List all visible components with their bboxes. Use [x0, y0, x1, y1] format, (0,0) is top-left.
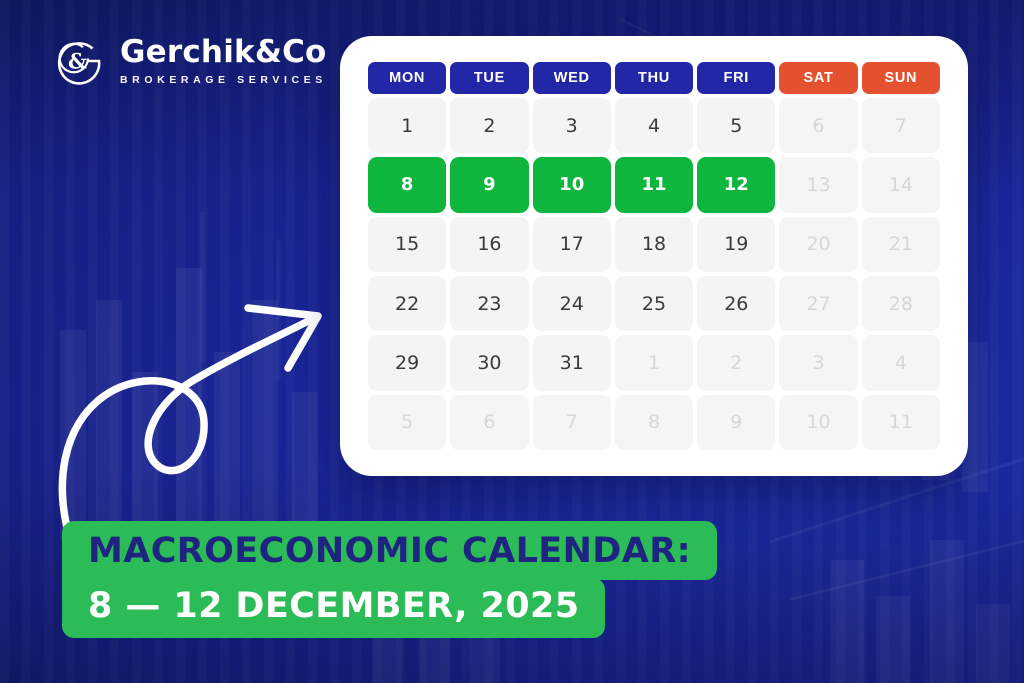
calendar-day-cell[interactable]: 10 [533, 157, 611, 212]
calendar-day-cell[interactable]: 29 [368, 335, 446, 390]
calendar-day-cell[interactable]: 13 [779, 157, 857, 212]
calendar-card: MONTUEWEDTHUFRISATSUN1234567891011121314… [340, 36, 968, 476]
calendar-day-cell[interactable]: 12 [697, 157, 775, 212]
calendar-day-cell[interactable]: 28 [862, 276, 940, 331]
calendar-day-cell[interactable]: 11 [862, 395, 940, 450]
calendar-day-cell[interactable]: 5 [697, 98, 775, 153]
calendar-day-cell[interactable]: 1 [615, 335, 693, 390]
svg-text:&: & [68, 49, 87, 74]
calendar-day-cell[interactable]: 7 [862, 98, 940, 153]
calendar-day-cell[interactable]: 22 [368, 276, 446, 331]
gerchik-monogram-icon: & [52, 34, 106, 88]
calendar-day-cell[interactable]: 27 [779, 276, 857, 331]
day-header-wed: WED [533, 62, 611, 94]
poster-canvas: & Gerchik&Co BROKERAGE SERVICES MONTUEWE… [0, 0, 1024, 683]
day-header-fri: FRI [697, 62, 775, 94]
calendar-day-cell[interactable]: 26 [697, 276, 775, 331]
calendar-day-cell[interactable]: 17 [533, 217, 611, 272]
brand-logo: & Gerchik&Co BROKERAGE SERVICES [52, 34, 327, 88]
calendar-day-cell[interactable]: 31 [533, 335, 611, 390]
brand-tagline: BROKERAGE SERVICES [120, 75, 327, 86]
day-header-thu: THU [615, 62, 693, 94]
calendar-day-cell[interactable]: 9 [450, 157, 528, 212]
calendar-day-cell[interactable]: 19 [697, 217, 775, 272]
title-line-2: 8 — 12 DECEMBER, 2025 [62, 578, 605, 638]
calendar-day-cell[interactable]: 23 [450, 276, 528, 331]
calendar-day-cell[interactable]: 2 [450, 98, 528, 153]
calendar-day-cell[interactable]: 20 [779, 217, 857, 272]
calendar-day-cell[interactable]: 8 [615, 395, 693, 450]
calendar-day-cell[interactable]: 25 [615, 276, 693, 331]
calendar-day-cell[interactable]: 7 [533, 395, 611, 450]
calendar-day-cell[interactable]: 5 [368, 395, 446, 450]
calendar-day-cell[interactable]: 24 [533, 276, 611, 331]
day-header-mon: MON [368, 62, 446, 94]
calendar-day-cell[interactable]: 18 [615, 217, 693, 272]
calendar-day-cell[interactable]: 8 [368, 157, 446, 212]
calendar-day-cell[interactable]: 6 [450, 395, 528, 450]
brand-name: Gerchik&Co [120, 37, 327, 68]
calendar-day-cell[interactable]: 2 [697, 335, 775, 390]
calendar-day-cell[interactable]: 21 [862, 217, 940, 272]
calendar-day-cell[interactable]: 30 [450, 335, 528, 390]
calendar-grid: MONTUEWEDTHUFRISATSUN1234567891011121314… [368, 62, 940, 450]
calendar-day-cell[interactable]: 10 [779, 395, 857, 450]
calendar-day-cell[interactable]: 3 [779, 335, 857, 390]
calendar-day-cell[interactable]: 14 [862, 157, 940, 212]
calendar-day-cell[interactable]: 1 [368, 98, 446, 153]
calendar-day-cell[interactable]: 16 [450, 217, 528, 272]
title-banner-group: MACROECONOMIC CALENDAR: 8 — 12 DECEMBER,… [62, 521, 1024, 638]
calendar-day-cell[interactable]: 4 [615, 98, 693, 153]
calendar-day-cell[interactable]: 15 [368, 217, 446, 272]
day-header-sat: SAT [779, 62, 857, 94]
calendar-day-cell[interactable]: 6 [779, 98, 857, 153]
hand-drawn-curly-arrow-icon [52, 276, 342, 544]
calendar-day-cell[interactable]: 4 [862, 335, 940, 390]
day-header-tue: TUE [450, 62, 528, 94]
day-header-sun: SUN [862, 62, 940, 94]
calendar-day-cell[interactable]: 9 [697, 395, 775, 450]
calendar-day-cell[interactable]: 11 [615, 157, 693, 212]
calendar-day-cell[interactable]: 3 [533, 98, 611, 153]
title-line-1: MACROECONOMIC CALENDAR: [62, 521, 717, 580]
